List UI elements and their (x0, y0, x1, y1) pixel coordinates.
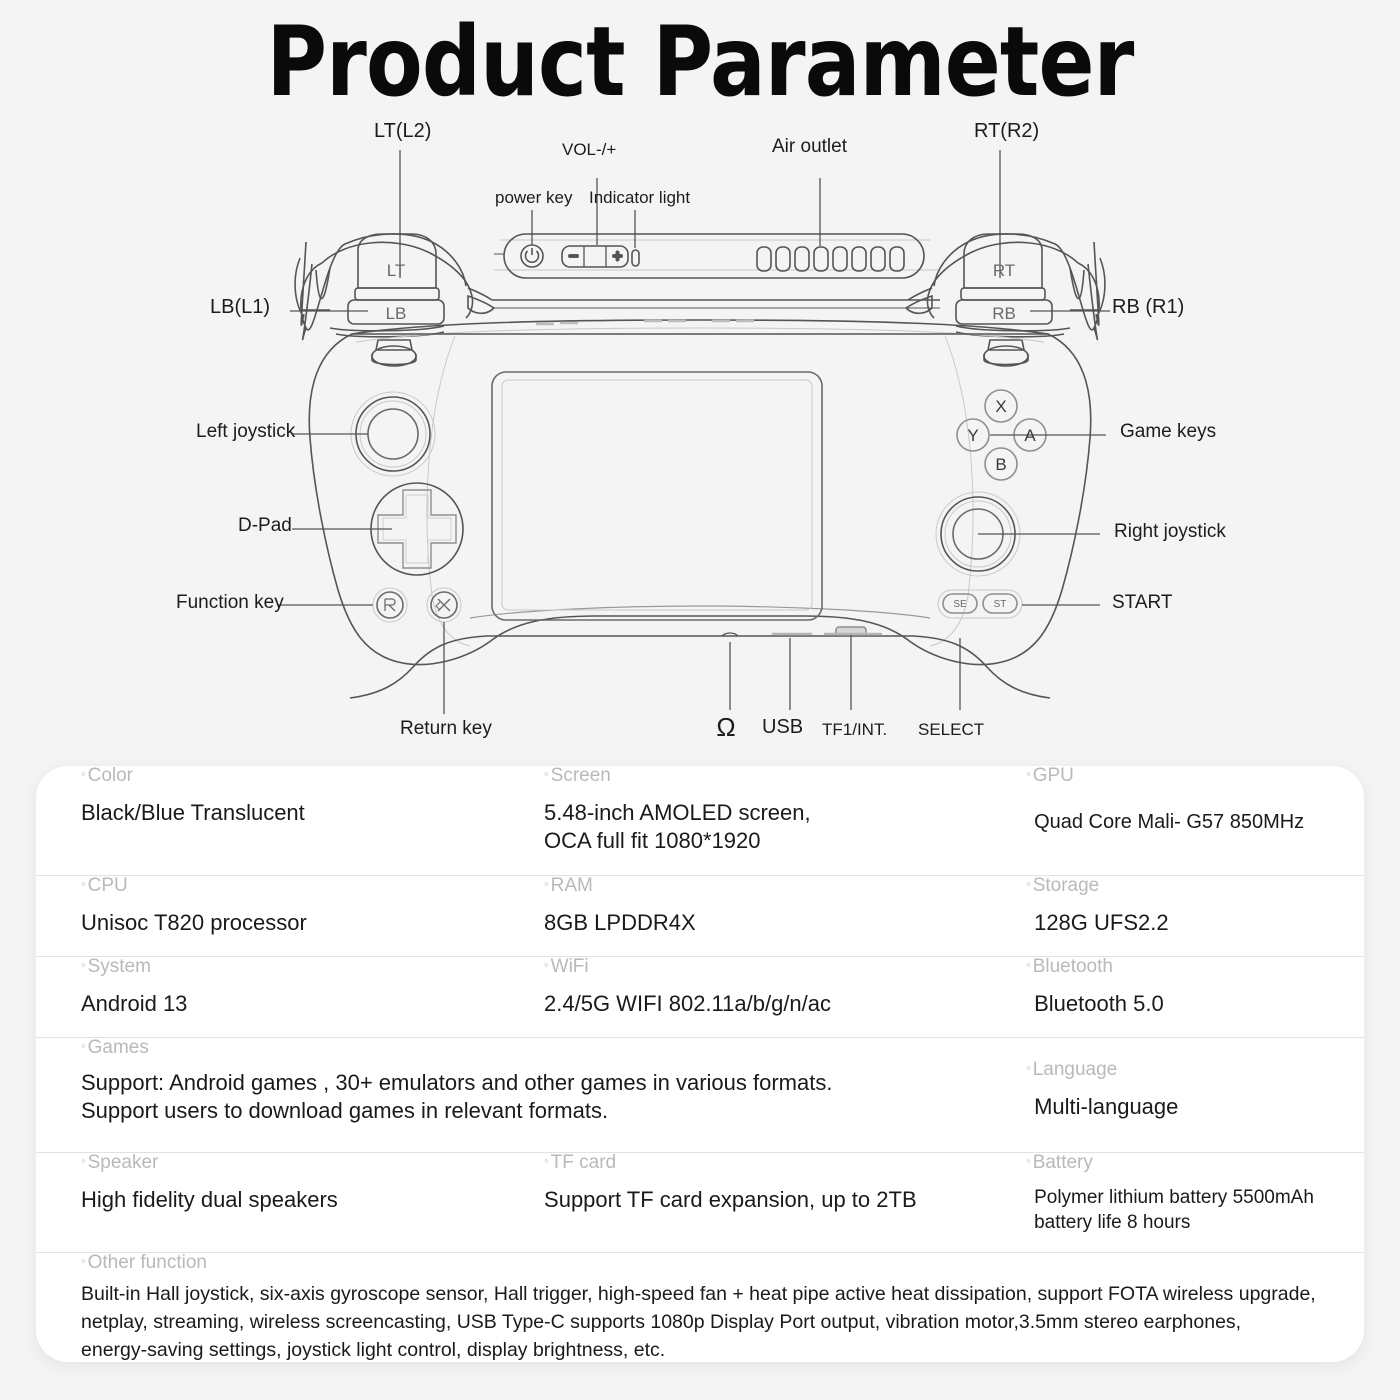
power-key-icon (521, 245, 543, 267)
spec-label: ◦WiFi (544, 957, 1012, 978)
spec-label: ◦Language (1026, 1060, 1364, 1081)
spec-value: 128G UFS2.2 (1034, 909, 1364, 938)
spec-rows: ◦Color Black/Blue Translucent ◦Screen 5.… (36, 766, 1364, 1362)
spec-cell-other-function: ◦Other function Built-in Hall joystick, … (36, 1253, 1364, 1362)
spec-value: Unisoc T820 processor (81, 909, 526, 938)
spec-value: Support: Android games , 30+ emulators a… (81, 1069, 1012, 1126)
spec-value: Polymer lithium battery 5500mAh battery … (1034, 1186, 1364, 1235)
spec-card: ◦Color Black/Blue Translucent ◦Screen 5.… (36, 766, 1364, 1362)
spec-label: ◦Screen (544, 766, 1012, 787)
bullet-icon: ◦ (81, 876, 86, 891)
table-row: ◦CPU Unisoc T820 processor ◦RAM 8GB LPDD… (36, 876, 1364, 957)
button-y-text: Y (967, 426, 978, 445)
spec-label: ◦Speaker (81, 1153, 526, 1174)
button-se-text: SE (953, 599, 967, 610)
se-st-buttons-art (938, 590, 1022, 618)
lt-button-text: LT (387, 261, 406, 280)
button-a-text: A (1024, 426, 1036, 445)
button-x-text: X (995, 397, 1006, 416)
bullet-icon: ◦ (544, 1153, 549, 1168)
label-select: SELECT (918, 720, 984, 740)
spec-cell-color: ◦Color Black/Blue Translucent (36, 766, 526, 875)
spec-cell-screen: ◦Screen 5.48-inch AMOLED screen, OCA ful… (526, 766, 1012, 875)
spec-cell-battery: ◦Battery Polymer lithium battery 5500mAh… (1012, 1153, 1364, 1252)
bullet-icon: ◦ (1026, 1153, 1031, 1168)
spec-label: ◦Color (81, 766, 526, 787)
top-leader-lines (290, 150, 1110, 311)
label-indicator-light: Indicator light (589, 188, 690, 208)
spec-value: 5.48-inch AMOLED screen, OCA full fit 10… (544, 799, 1012, 856)
air-outlet-vents (757, 247, 904, 271)
lb-button-text: LB (386, 304, 407, 323)
rb-button-text: RB (992, 304, 1016, 323)
bullet-icon: ◦ (81, 1038, 86, 1053)
indicator-light-slot (632, 250, 639, 266)
label-usb: USB (762, 716, 803, 739)
spec-label: ◦RAM (544, 876, 1012, 897)
spec-cell-games: ◦Games Support: Android games , 30+ emul… (36, 1038, 1012, 1152)
spec-cell-storage: ◦Storage 128G UFS2.2 (1012, 876, 1364, 956)
spec-value: Quad Core Mali- G57 850MHz (1034, 809, 1364, 835)
spec-cell-ram: ◦RAM 8GB LPDDR4X (526, 876, 1012, 956)
spec-value: Multi-language (1034, 1093, 1364, 1122)
volume-rocker (562, 246, 628, 267)
label-power-key: power key (495, 188, 572, 208)
spec-cell-gpu: ◦GPU Quad Core Mali- G57 850MHz (1012, 766, 1364, 875)
headphone-icon: Ω (716, 712, 736, 743)
bullet-icon: ◦ (1026, 1060, 1031, 1075)
table-row: ◦Color Black/Blue Translucent ◦Screen 5.… (36, 766, 1364, 876)
spec-value: Built-in Hall joystick, six-axis gyrosco… (81, 1280, 1364, 1362)
table-row: ◦Games Support: Android games , 30+ emul… (36, 1038, 1364, 1153)
device-diagram: LT LB RT RB X Y A B SE ST LT(L2) LB(L1) … (0, 118, 1400, 758)
bullet-icon: ◦ (544, 957, 549, 972)
label-tf1: TF1/INT. (822, 720, 887, 740)
spec-value: Android 13 (81, 990, 526, 1019)
label-rb-r1: RB (R1) (1112, 296, 1184, 319)
bullet-icon: ◦ (1026, 766, 1031, 781)
spec-label: ◦TF card (544, 1153, 1012, 1174)
spec-label: ◦GPU (1026, 766, 1364, 787)
page-title: Product Parameter (98, 10, 1302, 116)
spec-cell-cpu: ◦CPU Unisoc T820 processor (36, 876, 526, 956)
label-right-joystick: Right joystick (1114, 521, 1226, 543)
table-row: ◦System Android 13 ◦WiFi 2.4/5G WIFI 802… (36, 957, 1364, 1038)
button-st-text: ST (994, 599, 1007, 610)
bullet-icon: ◦ (544, 766, 549, 781)
front-view-body (309, 320, 1090, 698)
bullet-icon: ◦ (1026, 876, 1031, 891)
spec-cell-system: ◦System Android 13 (36, 957, 526, 1037)
spec-value: 8GB LPDDR4X (544, 909, 1012, 938)
bullet-icon: ◦ (544, 876, 549, 891)
bullet-icon: ◦ (81, 1253, 86, 1268)
label-start: START (1112, 592, 1173, 614)
spec-value: 2.4/5G WIFI 802.11a/b/g/n/ac (544, 990, 1012, 1019)
bullet-icon: ◦ (81, 957, 86, 972)
spec-label: ◦Storage (1026, 876, 1364, 897)
spec-value: Bluetooth 5.0 (1034, 990, 1364, 1019)
spec-cell-speaker: ◦Speaker High fidelity dual speakers (36, 1153, 526, 1252)
spec-value: Black/Blue Translucent (81, 799, 526, 828)
spec-label: ◦Games (81, 1038, 1012, 1059)
spec-value: High fidelity dual speakers (81, 1186, 526, 1215)
rt-button-text: RT (993, 261, 1015, 280)
product-parameter-page: Product Parameter (0, 0, 1400, 1400)
label-rt-r2: RT(R2) (974, 120, 1039, 143)
top-center-body (492, 234, 940, 308)
label-vol: VOL-/+ (562, 140, 616, 160)
label-lt-l2: LT(L2) (374, 120, 431, 143)
bullet-icon: ◦ (1026, 957, 1031, 972)
spec-cell-tfcard: ◦TF card Support TF card expansion, up t… (526, 1153, 1012, 1252)
spec-label: ◦CPU (81, 876, 526, 897)
label-dpad: D-Pad (238, 515, 292, 537)
spec-label: ◦System (81, 957, 526, 978)
spec-value: Support TF card expansion, up to 2TB (544, 1186, 1012, 1215)
front-leader-lines (278, 434, 1106, 714)
bullet-icon: ◦ (81, 1153, 86, 1168)
spec-label: ◦Other function (81, 1253, 1364, 1274)
left-grip (295, 234, 494, 366)
function-key-art (373, 588, 407, 622)
table-row: ◦Other function Built-in Hall joystick, … (36, 1253, 1364, 1362)
label-left-joystick: Left joystick (196, 421, 295, 443)
return-key-art (427, 588, 461, 622)
spec-cell-language: ◦Language Multi-language (1012, 1038, 1364, 1152)
spec-label: ◦Battery (1026, 1153, 1364, 1174)
spec-label: ◦Bluetooth (1026, 957, 1364, 978)
label-function-key: Function key (176, 592, 284, 614)
spec-cell-bluetooth: ◦Bluetooth Bluetooth 5.0 (1012, 957, 1364, 1037)
button-b-text: B (995, 455, 1006, 474)
label-return-key: Return key (400, 718, 492, 740)
table-row: ◦Speaker High fidelity dual speakers ◦TF… (36, 1153, 1364, 1253)
bullet-icon: ◦ (81, 766, 86, 781)
label-air-outlet: Air outlet (772, 136, 847, 158)
label-game-keys: Game keys (1120, 421, 1216, 443)
spec-cell-wifi: ◦WiFi 2.4/5G WIFI 802.11a/b/g/n/ac (526, 957, 1012, 1037)
label-lb-l1: LB(L1) (210, 296, 270, 319)
